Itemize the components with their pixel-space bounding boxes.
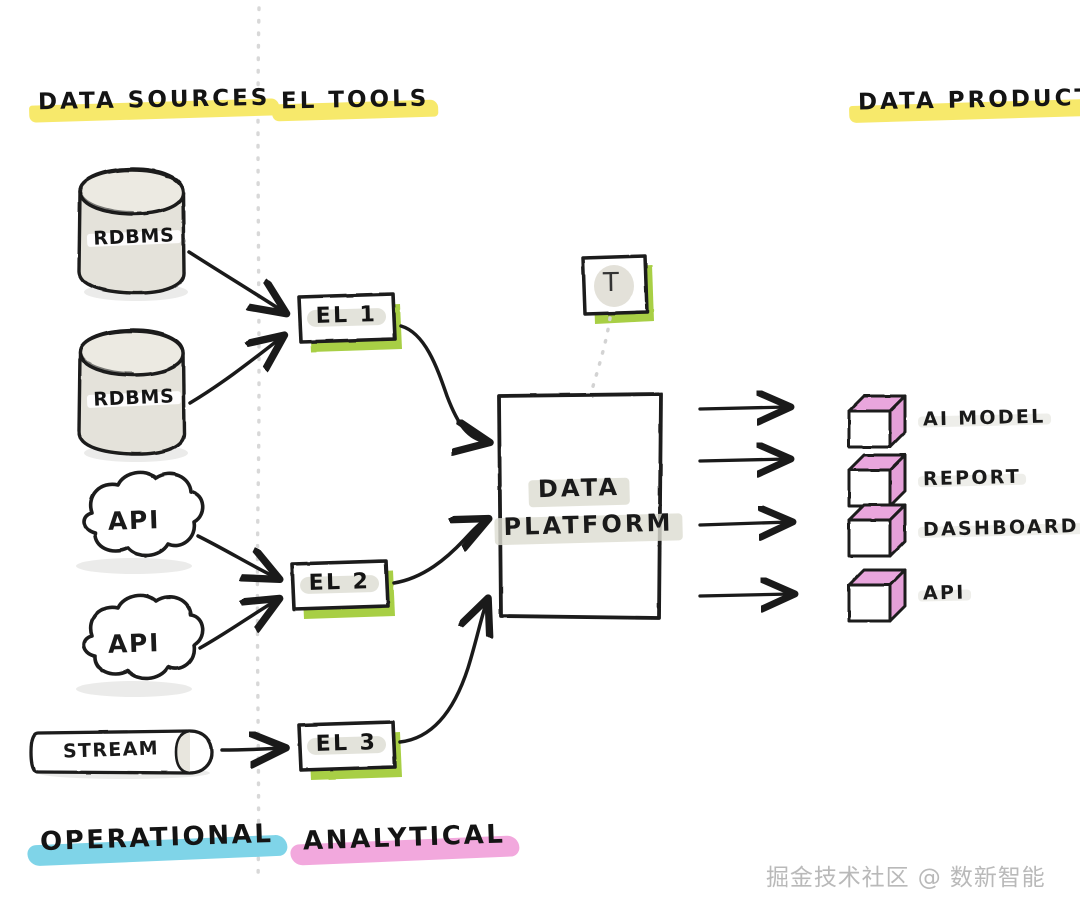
product-label-report: REPORT bbox=[920, 468, 1025, 490]
product-label-dashboard: DASHBOARD bbox=[920, 517, 1080, 540]
arrow-el1-to-platform bbox=[401, 326, 487, 442]
source-label-stream: STREAM bbox=[46, 739, 177, 763]
transform-to-platform-connector bbox=[580, 318, 610, 436]
watermark: 掘金技术社区 @ 数新智能 bbox=[766, 858, 1046, 892]
transform-tool-label: T bbox=[603, 270, 619, 296]
arrow-api1-to-el2 bbox=[198, 536, 277, 578]
source-label-rdbms-2: RDBMS bbox=[84, 387, 185, 410]
arrow-el3-to-platform bbox=[400, 601, 487, 742]
arrow-to-ai-model bbox=[700, 407, 788, 409]
el-to-platform-arrows bbox=[394, 326, 487, 742]
arrow-to-report bbox=[700, 459, 788, 461]
zone-label-operational: OPERATIONAL bbox=[33, 820, 282, 859]
operational-analytical-divider bbox=[257, 8, 259, 880]
arrow-rdbms2-to-el1 bbox=[190, 337, 282, 403]
product-cube-report bbox=[849, 455, 905, 506]
header-data-products: DATA PRODUCTS bbox=[853, 85, 1080, 116]
el-tool-1-label: EL 1 bbox=[299, 304, 395, 329]
source-label-api-2: API bbox=[86, 629, 183, 657]
platform-to-product-arrows bbox=[700, 407, 792, 596]
arrow-stream-to-el3 bbox=[222, 748, 283, 750]
arrow-to-dashboard bbox=[700, 522, 790, 525]
arrow-rdbms1-to-el1 bbox=[189, 252, 284, 312]
source-label-rdbms-1: RDBMS bbox=[84, 226, 185, 249]
header-data-sources: DATA SOURCES bbox=[33, 86, 276, 117]
data-platform-label: DATA PLATFORM bbox=[496, 468, 663, 547]
product-label-api: API bbox=[920, 583, 969, 603]
product-cube-ai-model bbox=[849, 396, 905, 447]
product-cube-api bbox=[849, 570, 905, 621]
arrow-el2-to-platform bbox=[394, 520, 486, 583]
product-cube-dashboard bbox=[849, 505, 905, 556]
header-el-tools: EL TOOLS bbox=[276, 86, 435, 115]
el-tool-2-label: EL 2 bbox=[292, 571, 388, 596]
product-label-ai-model: AI MODEL bbox=[920, 407, 1049, 429]
diagram-canvas: DATA SOURCES EL TOOLS DATA PRODUCTS RDBM… bbox=[0, 0, 1080, 909]
el-tool-3-label: EL 3 bbox=[299, 732, 395, 757]
diagram-artwork bbox=[0, 0, 1080, 909]
arrow-api2-to-el2 bbox=[200, 600, 277, 648]
source-to-el-arrows bbox=[189, 252, 284, 750]
arrow-to-api bbox=[700, 594, 792, 596]
source-label-api-1: API bbox=[86, 506, 183, 534]
zone-label-analytical: ANALYTICAL bbox=[296, 820, 513, 858]
